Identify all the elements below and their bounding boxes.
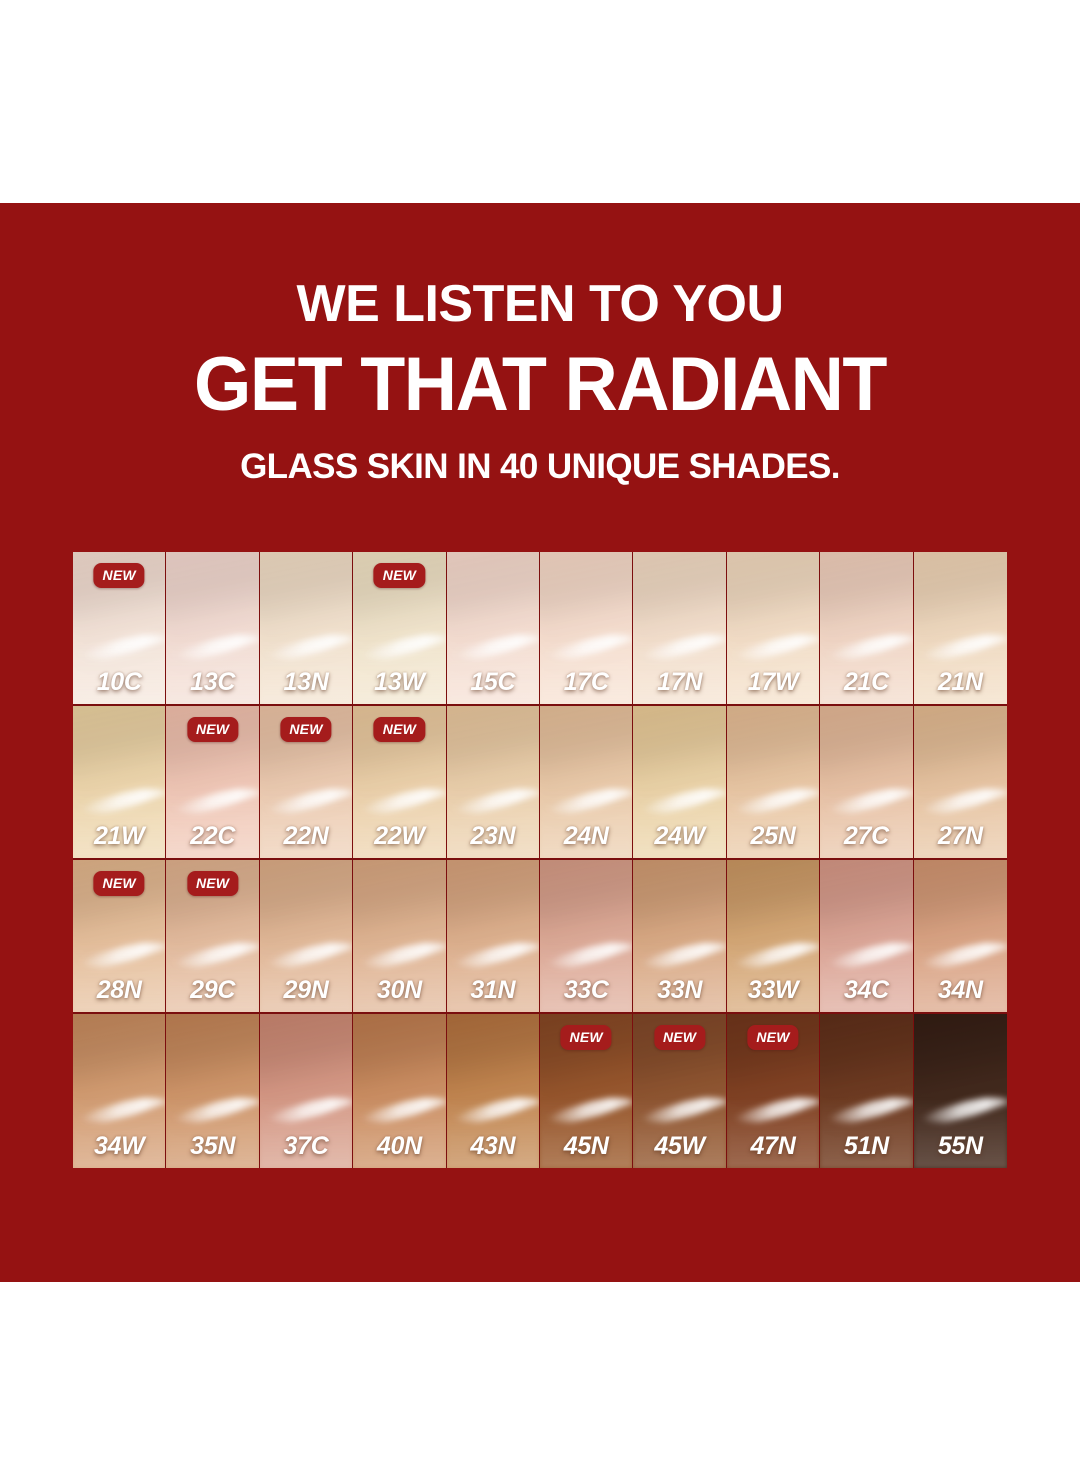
new-badge: NEW — [94, 563, 145, 588]
swatch-bottom-glow — [353, 942, 445, 1012]
swatch-bottom-glow — [260, 942, 352, 1012]
shade-swatch[interactable]: 34W — [73, 1014, 166, 1168]
swatch-bottom-glow — [820, 942, 912, 1012]
swatch-bottom-glow — [73, 634, 165, 704]
new-badge: NEW — [561, 1025, 612, 1050]
shade-swatch[interactable]: 23N — [447, 706, 540, 860]
shade-swatch[interactable]: 13N — [260, 552, 353, 706]
new-badge: NEW — [747, 1025, 798, 1050]
shade-swatch[interactable]: 27C — [820, 706, 913, 860]
swatch-bottom-glow — [447, 788, 539, 858]
shade-swatch[interactable]: 33N — [633, 860, 726, 1014]
shade-swatch[interactable]: 27N — [914, 706, 1007, 860]
shade-swatch[interactable]: NEW13W — [353, 552, 446, 706]
shade-swatch-grid: NEW10C13C13NNEW13W15C17C17N17W21C21N21WN… — [73, 552, 1007, 1168]
swatch-bottom-glow — [260, 634, 352, 704]
shade-swatch[interactable]: 17C — [540, 552, 633, 706]
swatch-bottom-glow — [914, 942, 1007, 1012]
swatch-bottom-glow — [353, 634, 445, 704]
swatch-bottom-glow — [633, 942, 725, 1012]
swatch-bottom-glow — [633, 634, 725, 704]
new-badge: NEW — [280, 717, 331, 742]
swatch-bottom-glow — [353, 788, 445, 858]
swatch-bottom-glow — [914, 634, 1007, 704]
new-badge: NEW — [187, 717, 238, 742]
swatch-bottom-glow — [73, 1097, 165, 1168]
swatch-bottom-glow — [540, 942, 632, 1012]
subtitle-text: GLASS SKIN IN 40 UNIQUE SHADES. — [0, 449, 1080, 484]
swatch-bottom-glow — [447, 942, 539, 1012]
swatch-bottom-glow — [166, 942, 258, 1012]
swatch-bottom-glow — [540, 788, 632, 858]
swatch-bottom-glow — [260, 1097, 352, 1168]
new-badge: NEW — [374, 717, 425, 742]
swatch-bottom-glow — [727, 1097, 819, 1168]
swatch-bottom-glow — [540, 634, 632, 704]
shade-swatch[interactable]: 30N — [353, 860, 446, 1014]
swatch-bottom-glow — [633, 788, 725, 858]
shade-swatch[interactable]: NEW28N — [73, 860, 166, 1014]
shade-swatch[interactable]: 24W — [633, 706, 726, 860]
shade-swatch[interactable]: NEW22W — [353, 706, 446, 860]
shade-swatch[interactable]: NEW45N — [540, 1014, 633, 1168]
swatch-bottom-glow — [727, 634, 819, 704]
shade-swatch[interactable]: 17N — [633, 552, 726, 706]
shade-swatch[interactable]: NEW22C — [166, 706, 259, 860]
shade-swatch[interactable]: 21C — [820, 552, 913, 706]
shade-swatch[interactable]: 15C — [447, 552, 540, 706]
shade-swatch[interactable]: 29N — [260, 860, 353, 1014]
shade-swatch[interactable]: 34C — [820, 860, 913, 1014]
shade-swatch[interactable]: NEW29C — [166, 860, 259, 1014]
swatch-bottom-glow — [73, 942, 165, 1012]
new-badge: NEW — [94, 871, 145, 896]
new-badge: NEW — [654, 1025, 705, 1050]
swatch-bottom-glow — [820, 634, 912, 704]
swatch-bottom-glow — [73, 788, 165, 858]
swatch-bottom-glow — [727, 788, 819, 858]
shade-swatch[interactable]: 17W — [727, 552, 820, 706]
swatch-bottom-glow — [166, 788, 258, 858]
kicker-text: WE LISTEN TO YOU — [0, 278, 1080, 330]
shade-swatch[interactable]: 55N — [914, 1014, 1007, 1168]
swatch-bottom-glow — [633, 1097, 725, 1168]
shade-swatch[interactable]: 35N — [166, 1014, 259, 1168]
swatch-bottom-glow — [447, 634, 539, 704]
swatch-bottom-glow — [447, 1097, 539, 1168]
shade-swatch[interactable]: NEW45W — [633, 1014, 726, 1168]
shade-swatch[interactable]: 34N — [914, 860, 1007, 1014]
swatch-bottom-glow — [166, 1097, 258, 1168]
shade-swatch[interactable]: 21W — [73, 706, 166, 860]
shade-swatch[interactable]: NEW47N — [727, 1014, 820, 1168]
shade-swatch[interactable]: 21N — [914, 552, 1007, 706]
swatch-bottom-glow — [727, 942, 819, 1012]
shade-swatch[interactable]: 33C — [540, 860, 633, 1014]
shade-swatch[interactable]: 37C — [260, 1014, 353, 1168]
new-badge: NEW — [374, 563, 425, 588]
swatch-bottom-glow — [353, 1097, 445, 1168]
shade-swatch[interactable]: 24N — [540, 706, 633, 860]
shade-swatch[interactable]: 33W — [727, 860, 820, 1014]
page-title: GET THAT RADIANT — [16, 347, 1064, 423]
shade-swatch[interactable]: 43N — [447, 1014, 540, 1168]
swatch-bottom-glow — [820, 788, 912, 858]
poster-canvas: WE LISTEN TO YOU GET THAT RADIANT GLASS … — [0, 0, 1080, 1479]
shade-swatch[interactable]: 40N — [353, 1014, 446, 1168]
swatch-bottom-glow — [914, 788, 1007, 858]
shade-swatch[interactable]: 13C — [166, 552, 259, 706]
new-badge: NEW — [187, 871, 238, 896]
shade-swatch[interactable]: 51N — [820, 1014, 913, 1168]
swatch-bottom-glow — [540, 1097, 632, 1168]
swatch-bottom-glow — [820, 1097, 912, 1168]
swatch-bottom-glow — [260, 788, 352, 858]
shade-swatch[interactable]: NEW22N — [260, 706, 353, 860]
shade-swatch[interactable]: 25N — [727, 706, 820, 860]
swatch-bottom-glow — [914, 1097, 1007, 1168]
shade-swatch[interactable]: NEW10C — [73, 552, 166, 706]
swatch-bottom-glow — [166, 634, 258, 704]
shade-swatch[interactable]: 31N — [447, 860, 540, 1014]
